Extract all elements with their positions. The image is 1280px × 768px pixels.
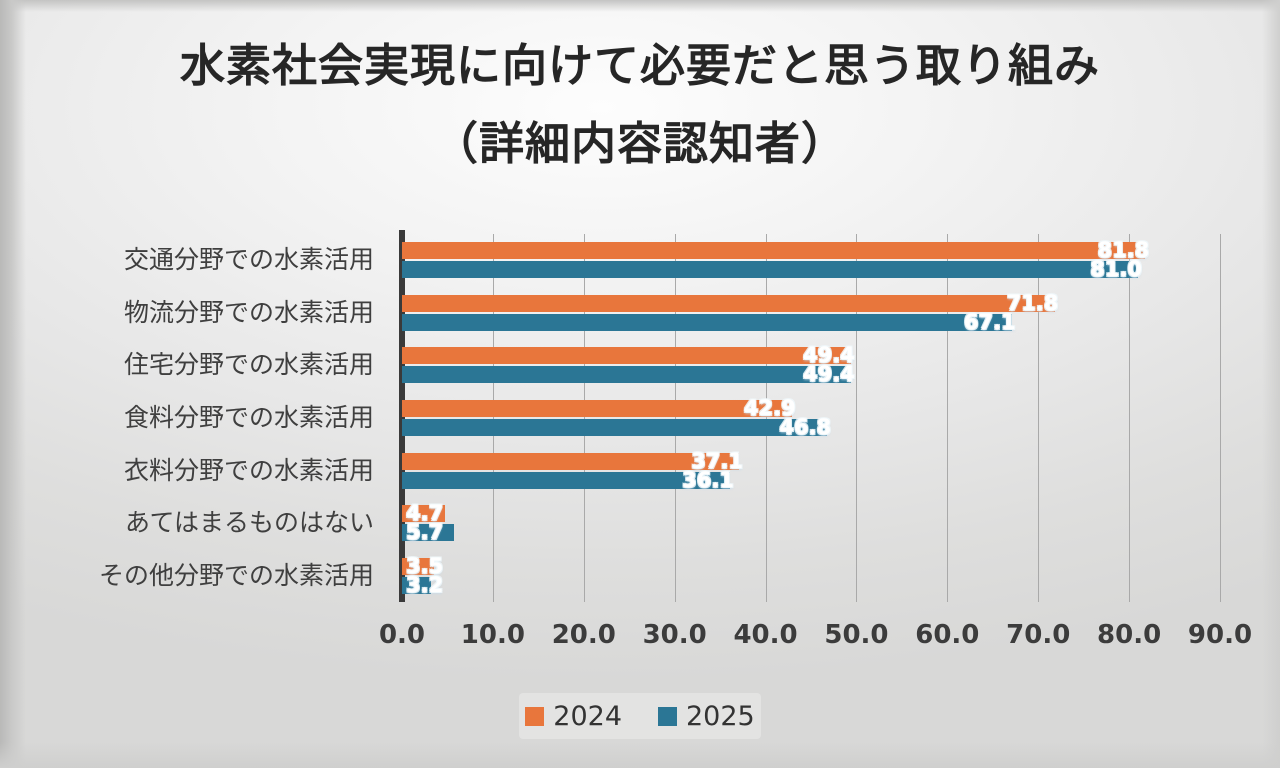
bar-2024-6[interactable] <box>402 558 434 575</box>
category-label: 食料分野での水素活用 <box>124 405 374 430</box>
gridline <box>766 234 767 602</box>
bar-2025-1[interactable] <box>402 314 1012 331</box>
x-axis-tick-label: 20.0 <box>552 620 616 650</box>
chart-legend[interactable]: 20242025 <box>519 693 761 739</box>
x-axis-tick-label: 70.0 <box>1006 620 1070 650</box>
gridline <box>1220 234 1221 602</box>
x-axis-tick-label: 80.0 <box>1097 620 1161 650</box>
legend-swatch-icon <box>658 707 677 726</box>
x-axis-tick-label: 30.0 <box>643 620 707 650</box>
bar-2024-1[interactable] <box>402 295 1055 312</box>
category-label: あてはまるものはない <box>125 510 374 535</box>
category-label: 住宅分野での水素活用 <box>124 352 374 377</box>
category-axis-labels: 交通分野での水素活用物流分野での水素活用住宅分野での水素活用食料分野での水素活用… <box>0 234 392 602</box>
background-edge-top <box>0 0 1280 12</box>
x-axis-tick-label: 50.0 <box>824 620 888 650</box>
legend-item-2024[interactable]: 2024 <box>525 703 622 730</box>
x-axis-tick-label: 60.0 <box>915 620 979 650</box>
gridline <box>493 234 494 602</box>
bar-2025-2[interactable] <box>402 366 851 383</box>
bar-2024-3[interactable] <box>402 400 792 417</box>
bar-2025-3[interactable] <box>402 419 827 436</box>
x-axis-tick-label: 10.0 <box>461 620 525 650</box>
bar-2025-0[interactable] <box>402 261 1138 278</box>
gridline <box>675 234 676 602</box>
legend-label: 2024 <box>553 703 622 730</box>
category-label: 衣料分野での水素活用 <box>124 458 374 483</box>
slide-canvas: 水素社会実現に向けて必要だと思う取り組み （詳細内容認知者） 交通分野での水素活… <box>0 0 1280 768</box>
chart-title: 水素社会実現に向けて必要だと思う取り組み <box>0 34 1280 98</box>
category-label: 交通分野での水素活用 <box>124 247 374 272</box>
bar-2024-2[interactable] <box>402 347 851 364</box>
x-axis-tick-label: 0.0 <box>379 620 425 650</box>
bar-2025-5[interactable] <box>402 524 454 541</box>
value-axis-tick-labels: 0.010.020.030.040.050.060.070.080.090.0 <box>0 620 1280 660</box>
gridline <box>947 234 948 602</box>
bar-2024-5[interactable] <box>402 505 445 522</box>
background-edge-bottom <box>0 742 1280 768</box>
legend-swatch-icon <box>525 707 544 726</box>
legend-item-2025[interactable]: 2025 <box>658 703 755 730</box>
bar-2024-4[interactable] <box>402 453 739 470</box>
x-axis-tick-label: 90.0 <box>1188 620 1252 650</box>
plot-area: 81.881.071.867.149.449.442.946.837.136.1… <box>402 234 1220 602</box>
chart-subtitle: （詳細内容認知者） <box>0 112 1280 176</box>
bar-2025-4[interactable] <box>402 472 730 489</box>
gridline <box>856 234 857 602</box>
category-label: その他分野での水素活用 <box>99 563 374 588</box>
gridline <box>1129 234 1130 602</box>
category-label: 物流分野での水素活用 <box>124 300 374 325</box>
gridline <box>584 234 585 602</box>
legend-label: 2025 <box>686 703 755 730</box>
gridline <box>1038 234 1039 602</box>
title-block: 水素社会実現に向けて必要だと思う取り組み （詳細内容認知者） <box>0 34 1280 176</box>
bar-2025-6[interactable] <box>402 577 431 594</box>
bar-2024-0[interactable] <box>402 242 1145 259</box>
chart-region: 交通分野での水素活用物流分野での水素活用住宅分野での水素活用食料分野での水素活用… <box>0 228 1280 608</box>
x-axis-tick-label: 40.0 <box>733 620 797 650</box>
